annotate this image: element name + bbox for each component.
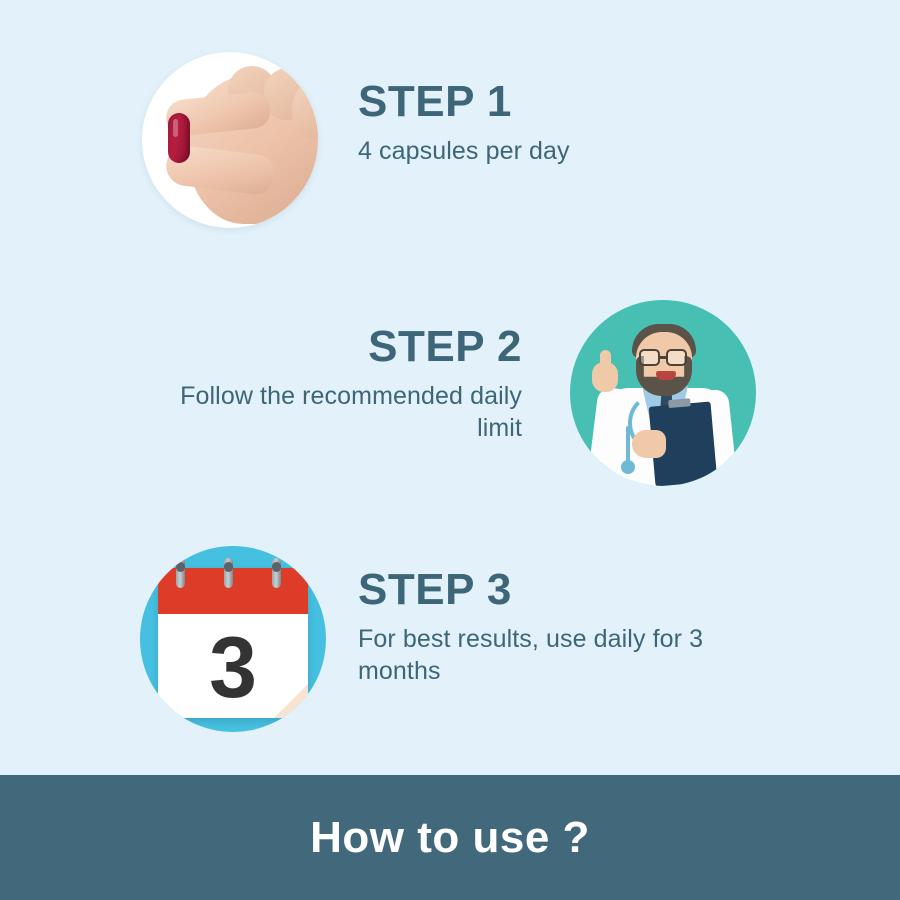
red-capsule-icon <box>168 113 190 163</box>
calendar-day-number: 3 <box>158 620 308 716</box>
stethoscope-tube <box>626 426 630 464</box>
stethoscope-bell <box>621 460 635 474</box>
calendar-ring-hole <box>224 562 233 572</box>
step-3-title: STEP 3 <box>358 568 758 612</box>
doctor-holding-hand <box>632 430 666 458</box>
step-2-title: STEP 2 <box>140 325 522 369</box>
step-3-text: STEP 3 For best results, use daily for 3… <box>358 568 758 687</box>
step-3-image-circle: 3 <box>140 546 326 732</box>
glasses-icon <box>666 349 687 366</box>
doctor-thumbs-up-illustration <box>570 300 756 486</box>
step-1-text: STEP 1 4 capsules per day <box>358 80 758 167</box>
step-1-title: STEP 1 <box>358 80 758 124</box>
doctor-mouth <box>656 371 676 380</box>
glasses-bridge <box>660 356 666 359</box>
step-2-description: Follow the recommended daily limit <box>140 380 522 444</box>
calendar-body: 3 <box>158 568 308 718</box>
doctor-raised-hand <box>592 362 618 392</box>
hand-holding-capsule-photo <box>142 52 318 228</box>
step-3-description: For best results, use daily for 3 months <box>358 623 758 687</box>
calendar-ring-hole <box>176 562 185 572</box>
step-1-description: 4 capsules per day <box>358 135 758 167</box>
calendar-icon: 3 <box>140 546 326 732</box>
step-1-image-circle <box>142 52 318 228</box>
calendar-ring-hole <box>272 562 281 572</box>
glasses-icon <box>639 349 660 366</box>
infographic-page: STEP 1 4 capsules per day STEP 2 Follow … <box>0 0 900 900</box>
step-2-image-circle <box>570 300 756 486</box>
step-2-text: STEP 2 Follow the recommended daily limi… <box>140 325 522 444</box>
footer-title: How to use ? <box>310 813 590 863</box>
footer-banner: How to use ? <box>0 775 900 900</box>
